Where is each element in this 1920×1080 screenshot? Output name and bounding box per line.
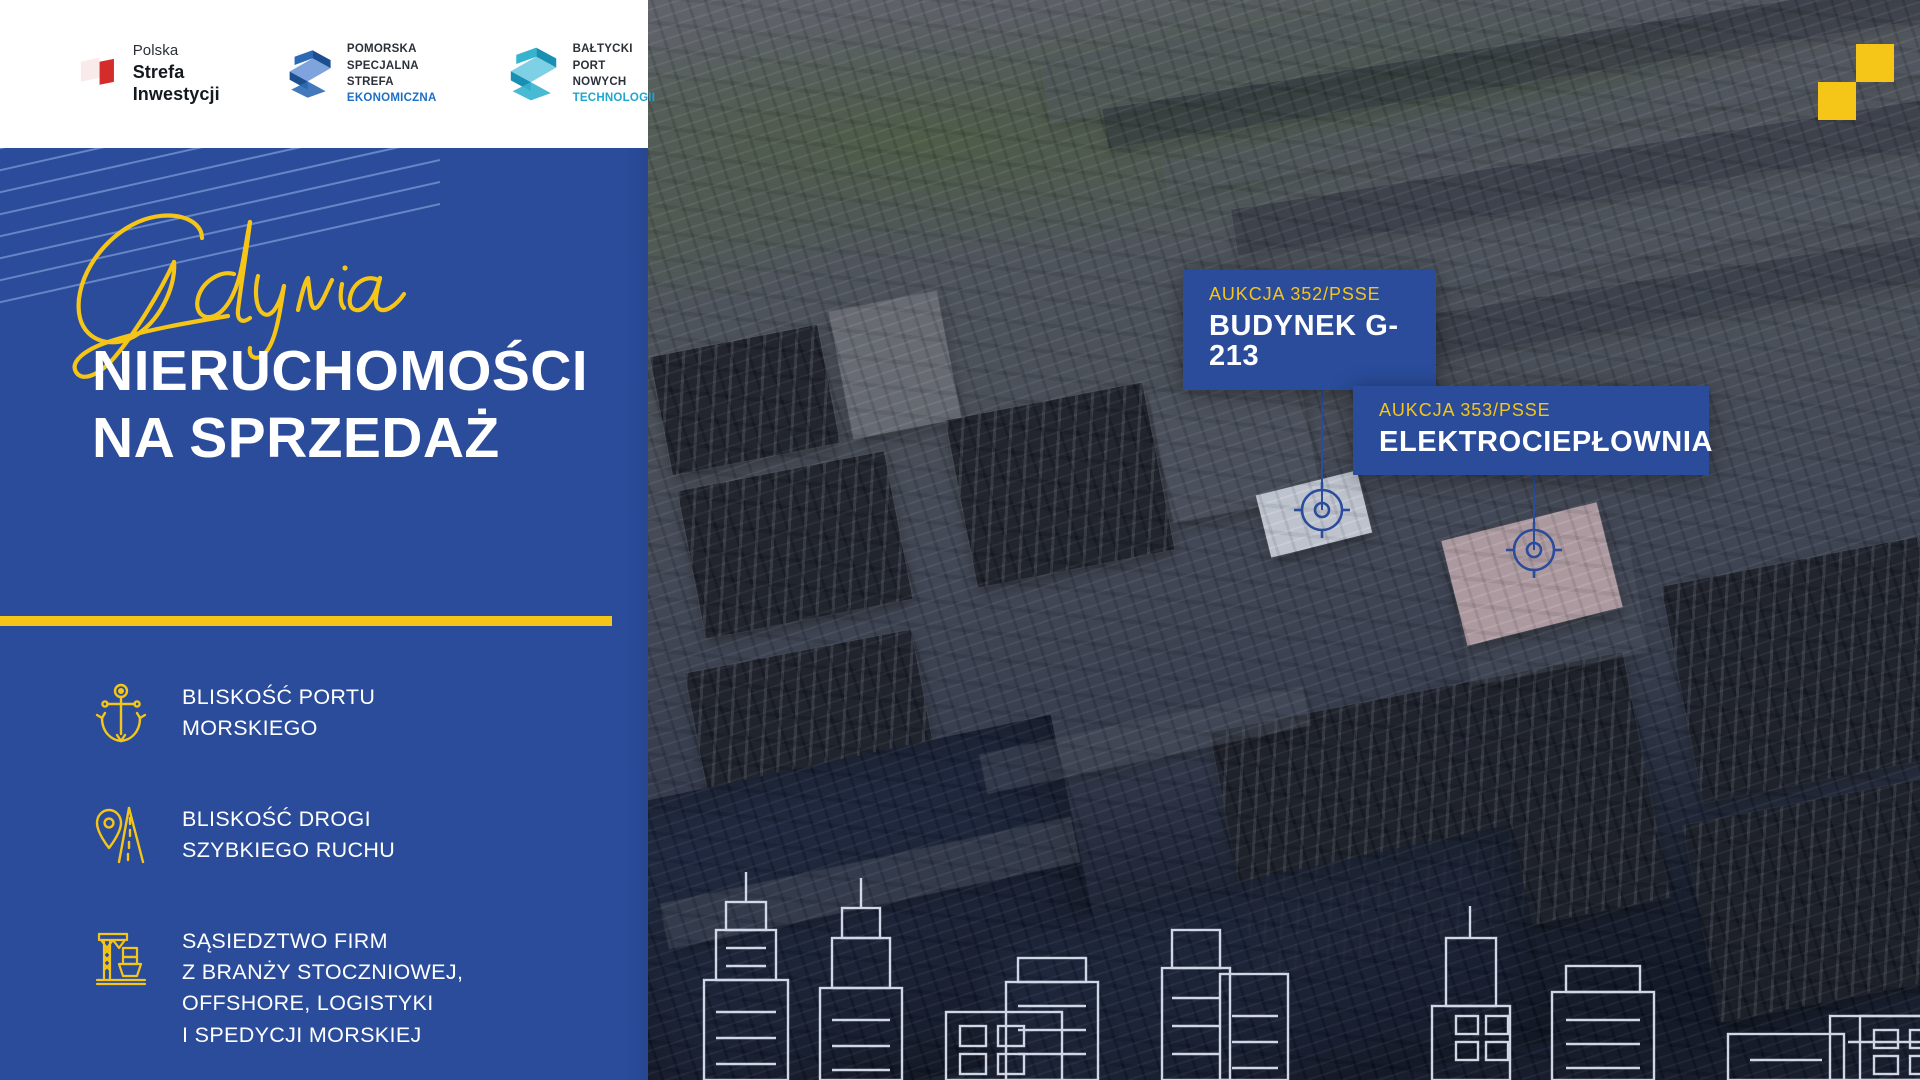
road-pin-icon (92, 800, 150, 870)
logo-baltycki-port-nowych-technologii: BAŁTYCKI PORT NOWYCH TECHNOLOGII (509, 41, 661, 106)
psi-flag-icon (78, 45, 120, 103)
psse-line-3: EKONOMICZNA (347, 90, 447, 106)
psse-logo-text: POMORSKA SPECJALNA STREFA EKONOMICZNA (347, 41, 447, 106)
bpnt-line-1: BAŁTYCKI PORT (573, 41, 661, 74)
callout-auction-label: AUKCJA 353/PSSE (1379, 400, 1683, 421)
list-item-label: SĄSIEDZTWO FIRM Z BRANŻY STOCZNIOWEJ, OF… (182, 922, 463, 1051)
feature-list: BLISKOŚĆ PORTU MORSKIEGO BLISKOŚĆ DROGI … (92, 678, 612, 1080)
bpnt-line-2: NOWYCH (573, 74, 661, 90)
callout-title: ELEKTROCIEPŁOWNIA (1379, 427, 1683, 457)
callout-title: BUDYNEK G-213 (1209, 311, 1410, 372)
logo-bar: Polska Strefa Inwestycji POMORSKA SPECJA… (0, 0, 648, 148)
psi-line-1: Polska (133, 42, 236, 61)
headline-line-1: NIERUCHOMOŚCI (92, 338, 632, 405)
page-title: NIERUCHOMOŚCI NA SPRZEDAŻ (92, 338, 632, 471)
poster-root: AUKCJA 352/PSSE BUDYNEK G-213 AUKCJA 353… (0, 0, 1920, 1080)
logo-polska-strefa-inwestycji: Polska Strefa Inwestycji (78, 42, 236, 105)
yellow-squares-decor-upper (1856, 44, 1894, 82)
bpnt-zigzag-icon (509, 43, 560, 105)
callout-elektrocieplownia[interactable]: AUKCJA 353/PSSE ELEKTROCIEPŁOWNIA (1353, 386, 1709, 475)
logo-pomorska-specjalna-strefa-ekonomiczna: POMORSKA SPECJALNA STREFA EKONOMICZNA (288, 41, 447, 106)
crane-ship-icon (92, 922, 150, 992)
anchor-icon (92, 678, 150, 748)
list-item: BLISKOŚĆ PORTU MORSKIEGO (92, 678, 612, 756)
yellow-divider-bar (0, 616, 612, 626)
list-item: BLISKOŚĆ DROGI SZYBKIEGO RUCHU (92, 800, 612, 878)
bpnt-line-3: TECHNOLOGII (573, 90, 661, 106)
info-panel: Gdynia NIER (0, 148, 648, 1080)
headline-line-2: NA SPRZEDAŻ (92, 405, 632, 472)
psse-line-2: SPECJALNA STREFA (347, 58, 447, 91)
callout-auction-label: AUKCJA 352/PSSE (1209, 284, 1410, 305)
psse-zigzag-icon (288, 43, 334, 105)
psi-logo-text: Polska Strefa Inwestycji (133, 42, 236, 105)
callout-budynek-g-213[interactable]: AUKCJA 352/PSSE BUDYNEK G-213 (1183, 270, 1436, 390)
list-item-label: BLISKOŚĆ PORTU MORSKIEGO (182, 678, 375, 744)
psi-line-2: Strefa Inwestycji (133, 61, 236, 106)
yellow-squares-decor-lower (1818, 82, 1856, 120)
list-item-label: BLISKOŚĆ DROGI SZYBKIEGO RUCHU (182, 800, 395, 866)
list-item: SĄSIEDZTWO FIRM Z BRANŻY STOCZNIOWEJ, OF… (92, 922, 612, 1051)
psse-line-1: POMORSKA (347, 41, 447, 57)
bpnt-logo-text: BAŁTYCKI PORT NOWYCH TECHNOLOGII (573, 41, 661, 106)
